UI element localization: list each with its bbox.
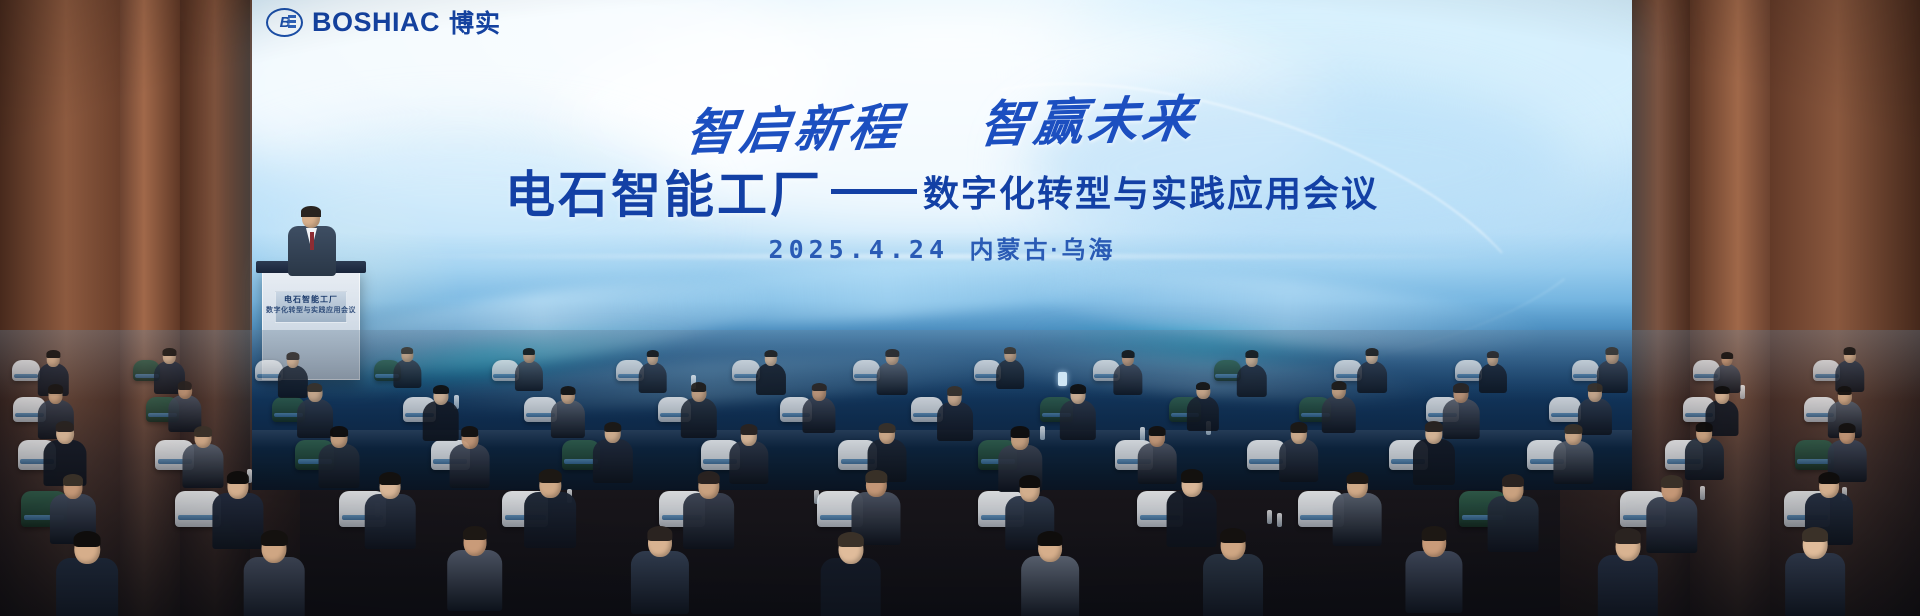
person-torso — [1357, 361, 1387, 393]
person-torso — [1060, 400, 1096, 440]
person-torso — [631, 551, 689, 614]
person-torso — [1554, 441, 1593, 484]
person-hair — [1837, 386, 1852, 395]
person-hair — [561, 386, 576, 395]
person-hair — [1365, 348, 1378, 356]
person-hair — [1565, 424, 1582, 434]
person-hair — [227, 471, 249, 484]
boshiac-emblem-icon: B — [266, 8, 303, 37]
person-torso — [1333, 493, 1382, 546]
speaker-tie — [310, 232, 314, 250]
audience-person — [1333, 469, 1382, 545]
person-hair — [461, 426, 479, 437]
audience-chair — [853, 360, 880, 381]
audience-chair — [1549, 397, 1582, 422]
person-hair — [1331, 381, 1346, 390]
person-hair — [1290, 422, 1307, 432]
person-hair — [1425, 421, 1443, 432]
person-hair — [647, 526, 672, 541]
audience-person — [1279, 420, 1319, 482]
person-hair — [740, 424, 757, 434]
speaker-hair — [301, 206, 321, 217]
person-torso — [1279, 439, 1319, 482]
person-torso — [551, 400, 585, 437]
person-torso — [1405, 551, 1462, 613]
chair-band — [1457, 374, 1481, 377]
person-hair — [1220, 528, 1246, 544]
person-torso — [680, 398, 716, 438]
date-location-row: 2025.4.24 内蒙古·乌海 — [252, 230, 1632, 265]
person-hair — [1721, 352, 1733, 359]
person-hair — [1019, 475, 1041, 488]
person-hair — [878, 423, 895, 433]
person-hair — [1149, 426, 1166, 436]
audience-person — [551, 384, 585, 437]
person-torso — [318, 444, 359, 488]
audience-person — [1554, 422, 1593, 483]
audience-person — [1405, 523, 1462, 612]
person-torso — [683, 493, 735, 549]
person-torso — [877, 362, 908, 395]
brand-logo: B BOSHIAC 博实 — [266, 4, 501, 40]
chair-band — [1797, 459, 1831, 464]
person-hair — [261, 530, 287, 546]
person-hair — [1004, 347, 1016, 354]
person-torso — [1203, 554, 1263, 616]
conference-location: 内蒙古·乌海 — [969, 237, 1115, 264]
person-hair — [1818, 472, 1839, 485]
person-hair — [1715, 386, 1729, 395]
person-torso — [515, 360, 543, 391]
person-torso — [1413, 439, 1455, 485]
person-torso — [1322, 396, 1356, 433]
person-torso — [1488, 496, 1539, 551]
person-hair — [523, 348, 535, 355]
person-hair — [401, 347, 413, 354]
person-hair — [1347, 472, 1368, 485]
person-hair — [307, 383, 323, 392]
person-hair — [691, 382, 707, 391]
person-hair — [765, 350, 778, 358]
person-torso — [592, 439, 632, 483]
emblem-bars-icon — [288, 15, 296, 29]
person-hair — [1181, 469, 1203, 482]
audience-person — [1598, 526, 1658, 616]
water-bottle — [1277, 513, 1282, 527]
person-torso — [803, 397, 836, 433]
audience-person — [524, 467, 576, 548]
conference-title-main: 电石智能工厂 — [505, 155, 823, 227]
person-torso — [524, 492, 576, 548]
conference-photo: B BOSHIAC 博实 智启新程 智赢未来 电石智能工厂 数字化转型与实践应用… — [0, 0, 1920, 616]
person-hair — [1422, 526, 1447, 541]
person-hair — [1011, 426, 1030, 437]
person-torso — [1113, 363, 1142, 395]
audience-person — [638, 349, 667, 394]
audience-person — [820, 529, 881, 616]
person-hair — [433, 385, 449, 395]
audience-person — [803, 381, 836, 433]
person-hair — [1487, 351, 1499, 358]
person-hair — [698, 471, 720, 484]
audience-person — [1413, 419, 1455, 485]
chair-band — [1551, 413, 1580, 417]
chair-band — [734, 374, 758, 377]
audience-chair — [1572, 360, 1599, 381]
person-hair — [604, 422, 621, 432]
person-hair — [1661, 475, 1683, 488]
audience-person — [592, 420, 632, 483]
person-hair — [63, 474, 83, 486]
person-torso — [638, 362, 667, 393]
person-torso — [1479, 363, 1507, 394]
person-hair — [886, 349, 899, 357]
person-torso — [394, 359, 421, 389]
person-hair — [1453, 383, 1469, 393]
person-hair — [812, 383, 826, 392]
person-hair — [539, 469, 561, 482]
person-torso — [1021, 556, 1079, 616]
person-hair — [1070, 384, 1086, 393]
podium-plate-line1: 电石智能工厂 — [263, 294, 359, 305]
audience-chair — [12, 360, 39, 381]
person-torso — [820, 558, 881, 616]
person-hair — [1038, 531, 1063, 546]
person-hair — [178, 381, 192, 390]
audience-person — [1203, 525, 1263, 616]
brand-name-en: BOSHIAC — [312, 7, 440, 38]
conference-title-sub: 数字化转型与实践应用会议 — [923, 165, 1379, 217]
person-hair — [463, 526, 487, 540]
podium-plate-line2: 数字化转型与实践应用会议 — [263, 305, 359, 315]
person-hair — [74, 531, 101, 547]
audience-person — [1236, 349, 1266, 397]
conference-date: 2025.4.24 — [769, 235, 949, 264]
person-hair — [48, 384, 64, 393]
person-hair — [1122, 350, 1135, 358]
chair-band — [1573, 374, 1597, 377]
person-torso — [937, 402, 973, 441]
person-torso — [57, 558, 119, 616]
audience-person — [1785, 524, 1845, 616]
water-bottle — [814, 490, 819, 504]
person-hair — [837, 532, 863, 548]
person-hair — [47, 350, 60, 358]
water-bottle — [1267, 510, 1272, 524]
person-hair — [947, 386, 963, 395]
audience-person — [1021, 529, 1079, 616]
person-hair — [163, 348, 176, 356]
person-torso — [996, 359, 1024, 389]
audience-person — [683, 468, 735, 549]
person-hair — [1588, 383, 1603, 392]
audience-person — [631, 523, 689, 614]
person-hair — [330, 426, 348, 437]
audience-person — [447, 524, 503, 611]
audience-person — [1322, 379, 1356, 433]
person-torso — [447, 550, 503, 610]
audience-person — [1113, 349, 1142, 395]
chair-band — [493, 374, 517, 377]
audience-person — [318, 424, 359, 488]
audience-area — [0, 330, 1920, 616]
audience-person — [1479, 349, 1507, 393]
person-hair — [194, 426, 212, 437]
chair-band — [854, 374, 878, 377]
audience-person — [680, 381, 716, 438]
audience-person — [996, 345, 1024, 388]
water-bottle — [1700, 486, 1705, 500]
person-hair — [55, 421, 74, 432]
chair-band — [14, 374, 38, 377]
audience-person — [1357, 346, 1387, 393]
person-torso — [756, 363, 786, 396]
audience-person — [877, 347, 908, 395]
person-hair — [1502, 474, 1524, 487]
audience-person — [394, 346, 421, 389]
person-hair — [286, 352, 299, 360]
audience-person — [937, 385, 973, 441]
audience-person — [1060, 383, 1096, 440]
audience-person — [1488, 472, 1539, 552]
person-torso — [1785, 553, 1845, 616]
person-torso — [365, 494, 416, 549]
person-hair — [1839, 423, 1856, 433]
audience-person — [1187, 380, 1219, 430]
person-torso — [729, 441, 768, 484]
tagline-right: 智赢未来 — [976, 89, 1201, 154]
conference-title-row: 电石智能工厂 数字化转型与实践应用会议 — [252, 155, 1632, 227]
audience-person — [729, 423, 768, 485]
person-hair — [1615, 528, 1641, 544]
person-hair — [1245, 350, 1258, 358]
brand-name-cn: 博实 — [449, 4, 501, 40]
person-torso — [1598, 555, 1658, 616]
person-torso — [244, 557, 305, 616]
person-hair — [1802, 527, 1828, 543]
person-torso — [1187, 396, 1219, 431]
audience-person — [756, 348, 786, 395]
audience-person — [1685, 420, 1723, 480]
person-torso — [449, 444, 490, 488]
audience-person — [244, 528, 305, 616]
person-hair — [1606, 347, 1619, 355]
audience-person — [57, 528, 119, 616]
person-hair — [1196, 382, 1210, 390]
audience-person — [449, 425, 490, 489]
audience-person — [515, 347, 543, 391]
person-torso — [1236, 364, 1266, 397]
person-hair — [646, 350, 658, 357]
person-hair — [866, 470, 887, 483]
speaker-at-podium — [284, 208, 340, 274]
person-hair — [379, 472, 401, 485]
person-hair — [1843, 347, 1856, 355]
person-hair — [1696, 422, 1713, 432]
tagline-gap — [922, 143, 956, 144]
tagline-left: 智启新程 — [682, 97, 907, 162]
audience-person — [365, 470, 416, 549]
title-dash-rule — [831, 189, 917, 194]
